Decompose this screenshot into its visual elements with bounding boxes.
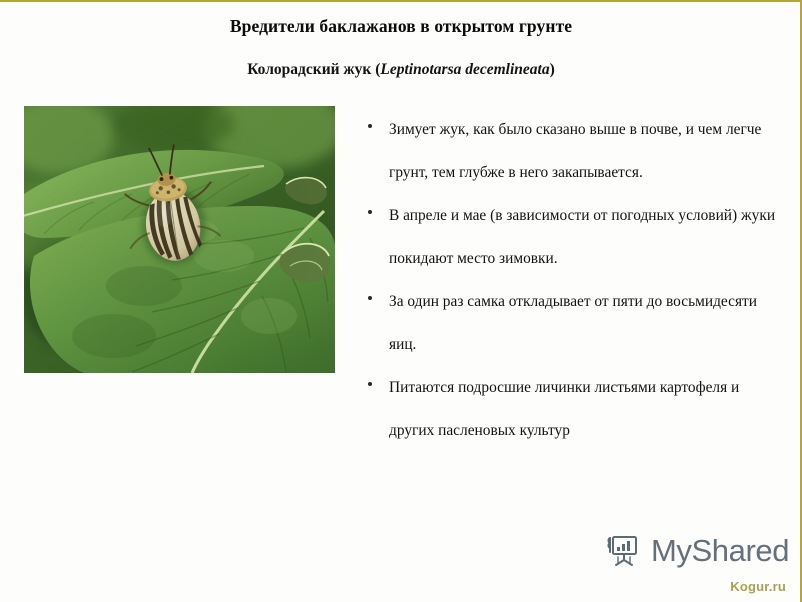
bullet-dot-icon [368, 210, 372, 214]
subtitle-scientific-name: Leptinotarsa decemlineata [380, 61, 549, 78]
list-item: За один раз самка откладывает от пяти до… [364, 280, 782, 366]
beetle-photo [24, 106, 335, 373]
list-item: Зимует жук, как было сказано выше в почв… [364, 108, 782, 194]
bullet-dot-icon [368, 296, 372, 300]
bullet-list: Зимует жук, как было сказано выше в почв… [364, 108, 782, 452]
presentation-board-icon [606, 533, 642, 567]
kogur-watermark: Kogur.ru [730, 579, 786, 594]
bullet-text: В апреле и мае (в зависимости от погодны… [389, 194, 782, 280]
slide-title: Вредители баклажанов в открытом грунте [0, 16, 802, 37]
subtitle-closing-paren: ) [550, 61, 555, 78]
slide-subtitle: Колорадский жук (Leptinotarsa decemlinea… [0, 61, 802, 79]
subtitle-common-name: Колорадский жук ( [247, 61, 380, 78]
myshared-logo-text: MyShared [651, 535, 789, 566]
bullet-dot-icon [368, 382, 372, 386]
bullet-text: За один раз самка откладывает от пяти до… [389, 280, 782, 366]
bullet-text: Зимует жук, как было сказано выше в почв… [389, 108, 782, 194]
list-item: В апреле и мае (в зависимости от погодны… [364, 194, 782, 280]
slide-top-rule [0, 0, 802, 2]
list-item: Питаются подросшие личинки листьями карт… [364, 366, 782, 452]
myshared-logo[interactable]: MyShared [606, 533, 789, 567]
bullet-text: Питаются подросшие личинки листьями карт… [389, 366, 782, 452]
bullet-dot-icon [368, 124, 372, 128]
slide-canvas: Вредители баклажанов в открытом грунте К… [0, 0, 802, 602]
